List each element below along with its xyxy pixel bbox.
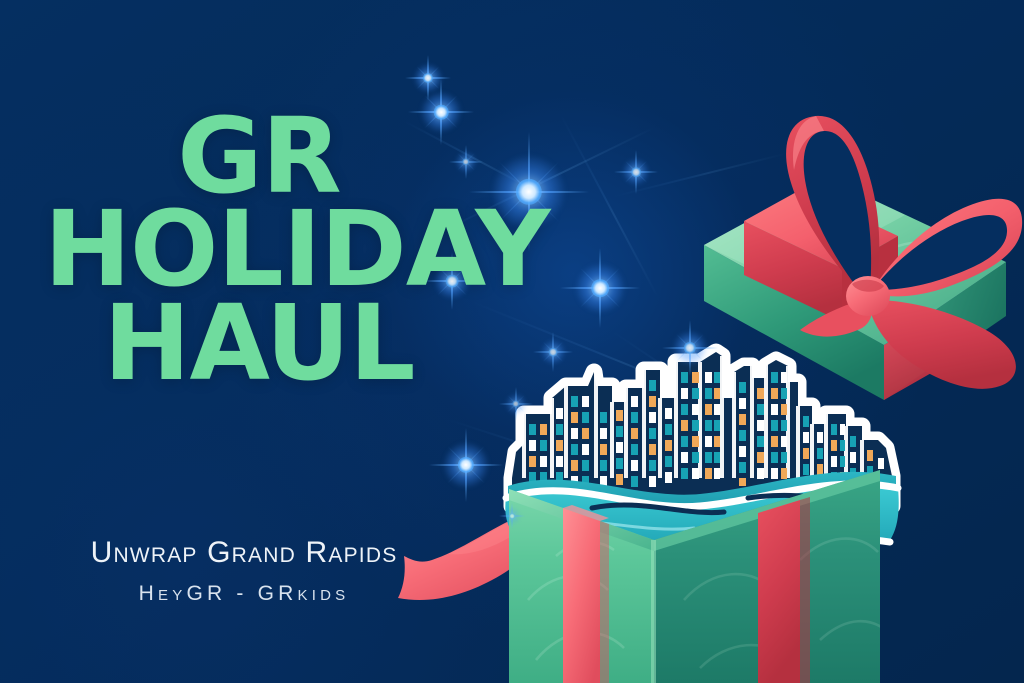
- poster-canvas: GR HOLIDAY HAUL Unwrap Grand Rapids HeyG…: [0, 0, 1024, 683]
- background-glow: [0, 0, 1024, 683]
